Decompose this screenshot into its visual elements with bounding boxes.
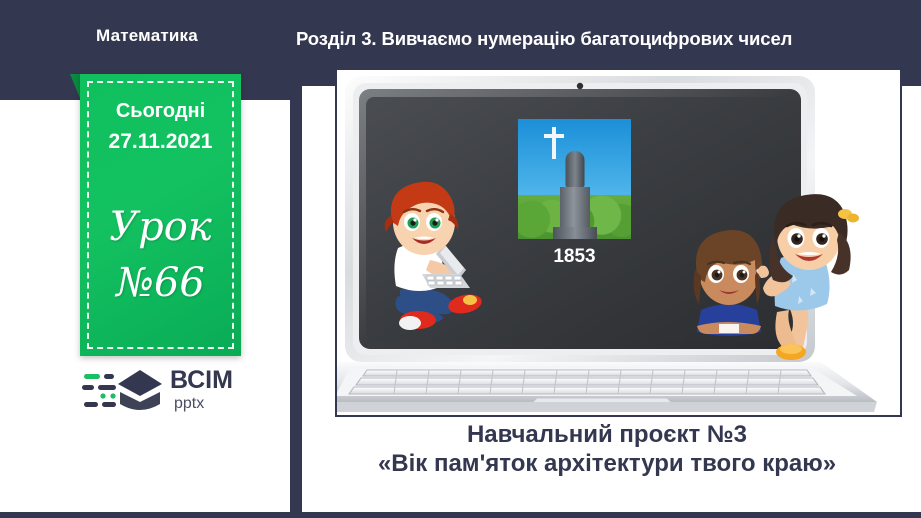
lesson-word: Урок — [80, 204, 241, 250]
logo-brand-text: ВСІМ — [170, 366, 233, 394]
date-lesson-card: Сьогодні 27.11.2021 Урок №66 — [80, 74, 241, 356]
laptop-keys — [349, 370, 825, 394]
thumbs-up-icon — [758, 266, 769, 278]
graduation-cap-icon — [82, 370, 162, 410]
bcim-pptx-logo: ВСІМ pptx — [82, 362, 234, 418]
section-title: Розділ 3. Вивчаємо нумерацію багатоцифро… — [296, 28, 876, 50]
laptop-illustration-card: 1853 — [335, 68, 902, 417]
monument-pedestal — [560, 187, 590, 239]
caption-line-2: «Вік пам'яток архітектури твого краю» — [302, 449, 912, 478]
monument-cross-icon — [552, 127, 556, 159]
monument-figure — [565, 151, 584, 187]
today-date: 27.11.2021 — [80, 130, 241, 154]
logo-suffix-text: pptx — [174, 395, 204, 412]
caption-line-1: Навчальний проєкт №3 — [302, 420, 912, 449]
slide-root: Математика Розділ 3. Вивчаємо нумерацію … — [0, 0, 921, 518]
today-label: Сьогодні — [80, 100, 241, 123]
character-boy-with-laptop — [372, 178, 492, 333]
monument-year-label: 1853 — [518, 246, 631, 268]
lesson-number: №66 — [80, 260, 241, 306]
monument-photo-icon — [518, 119, 631, 239]
subject-label: Математика — [96, 26, 198, 46]
project-caption: Навчальний проєкт №3 «Вік пам'яток архіт… — [302, 420, 912, 479]
character-girl-front — [747, 192, 867, 362]
